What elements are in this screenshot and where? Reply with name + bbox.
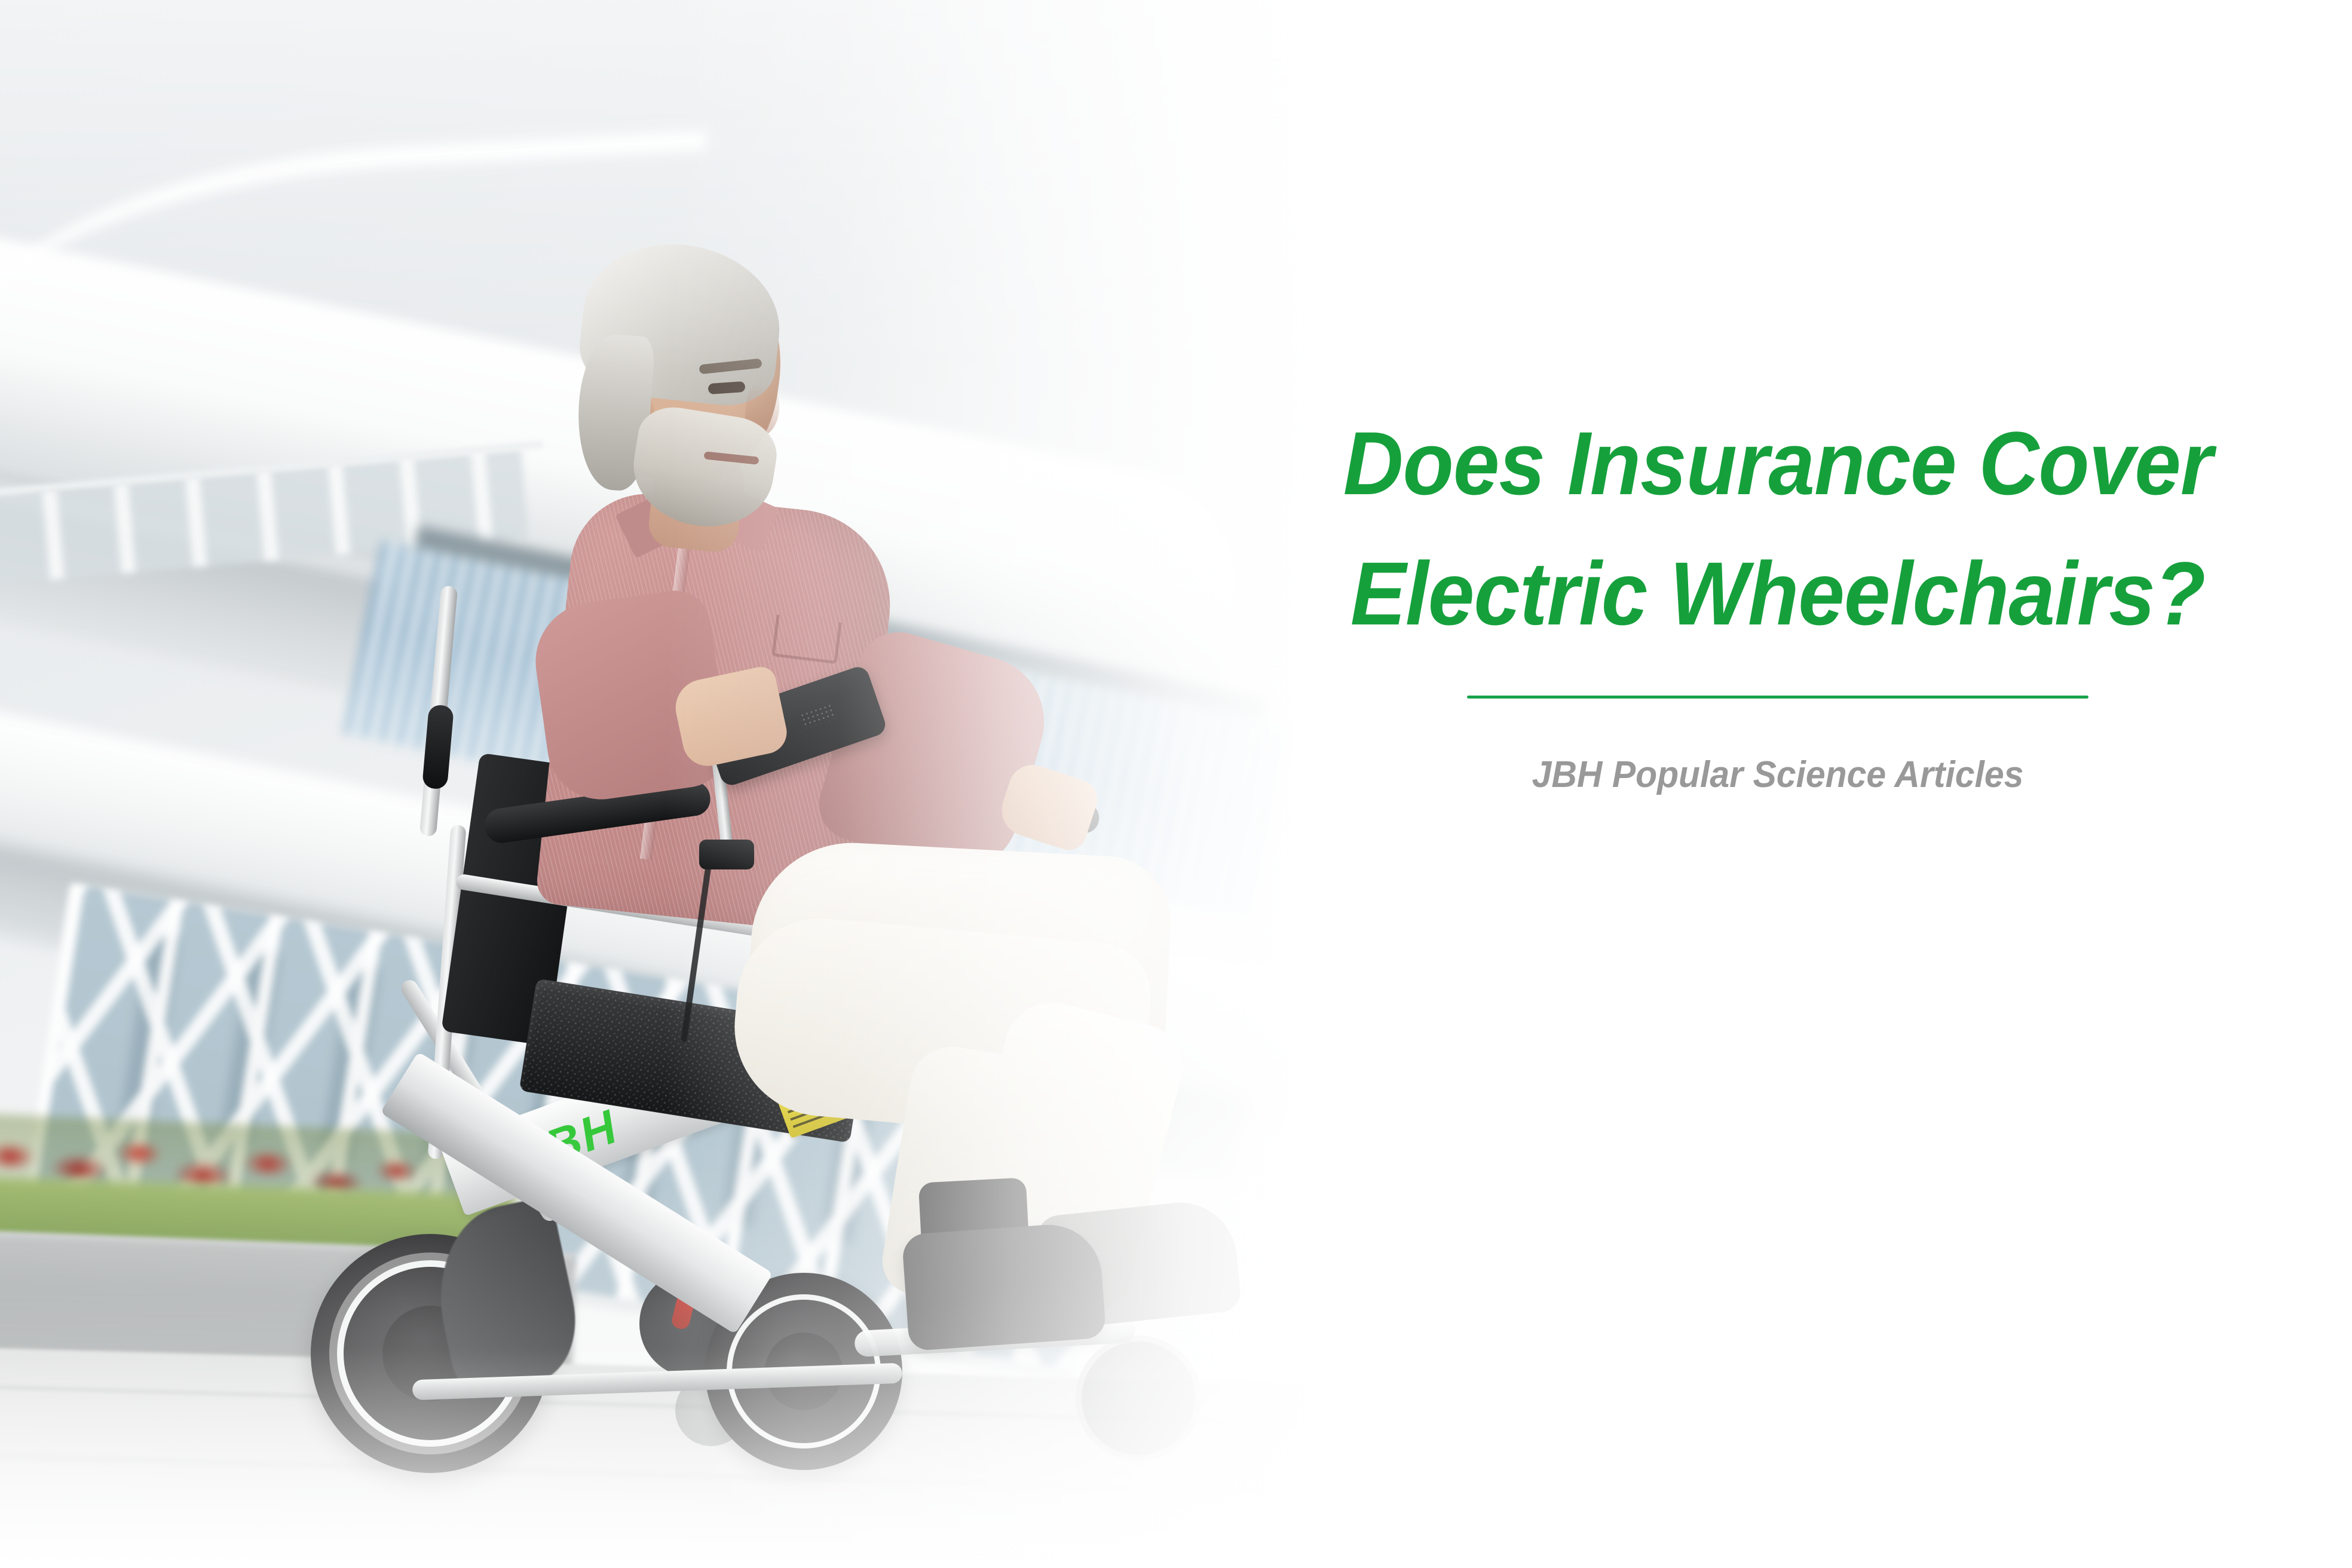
headline-divider <box>1467 696 2088 699</box>
controller-mount-knob <box>699 840 754 869</box>
shirt-pocket <box>771 615 842 664</box>
rider-boot-near <box>902 1221 1107 1352</box>
controller-speaker-grille <box>800 703 837 729</box>
headline-line-1: Does Insurance Cover <box>1269 418 2286 508</box>
wheelchair-and-rider: JBH <box>0 0 1446 1568</box>
push-handle-grip <box>422 704 454 789</box>
headline-block: Does Insurance Cover Electric Wheelchair… <box>1231 418 2325 796</box>
headline-subtitle: JBH Popular Science Articles <box>1258 754 2298 796</box>
front-caster-wheel <box>1076 1336 1201 1461</box>
hero-photo: JBH <box>0 0 1446 1568</box>
headline-line-2: Electric Wheelchairs? <box>1269 549 2286 638</box>
article-banner: JBH <box>0 0 2352 1568</box>
